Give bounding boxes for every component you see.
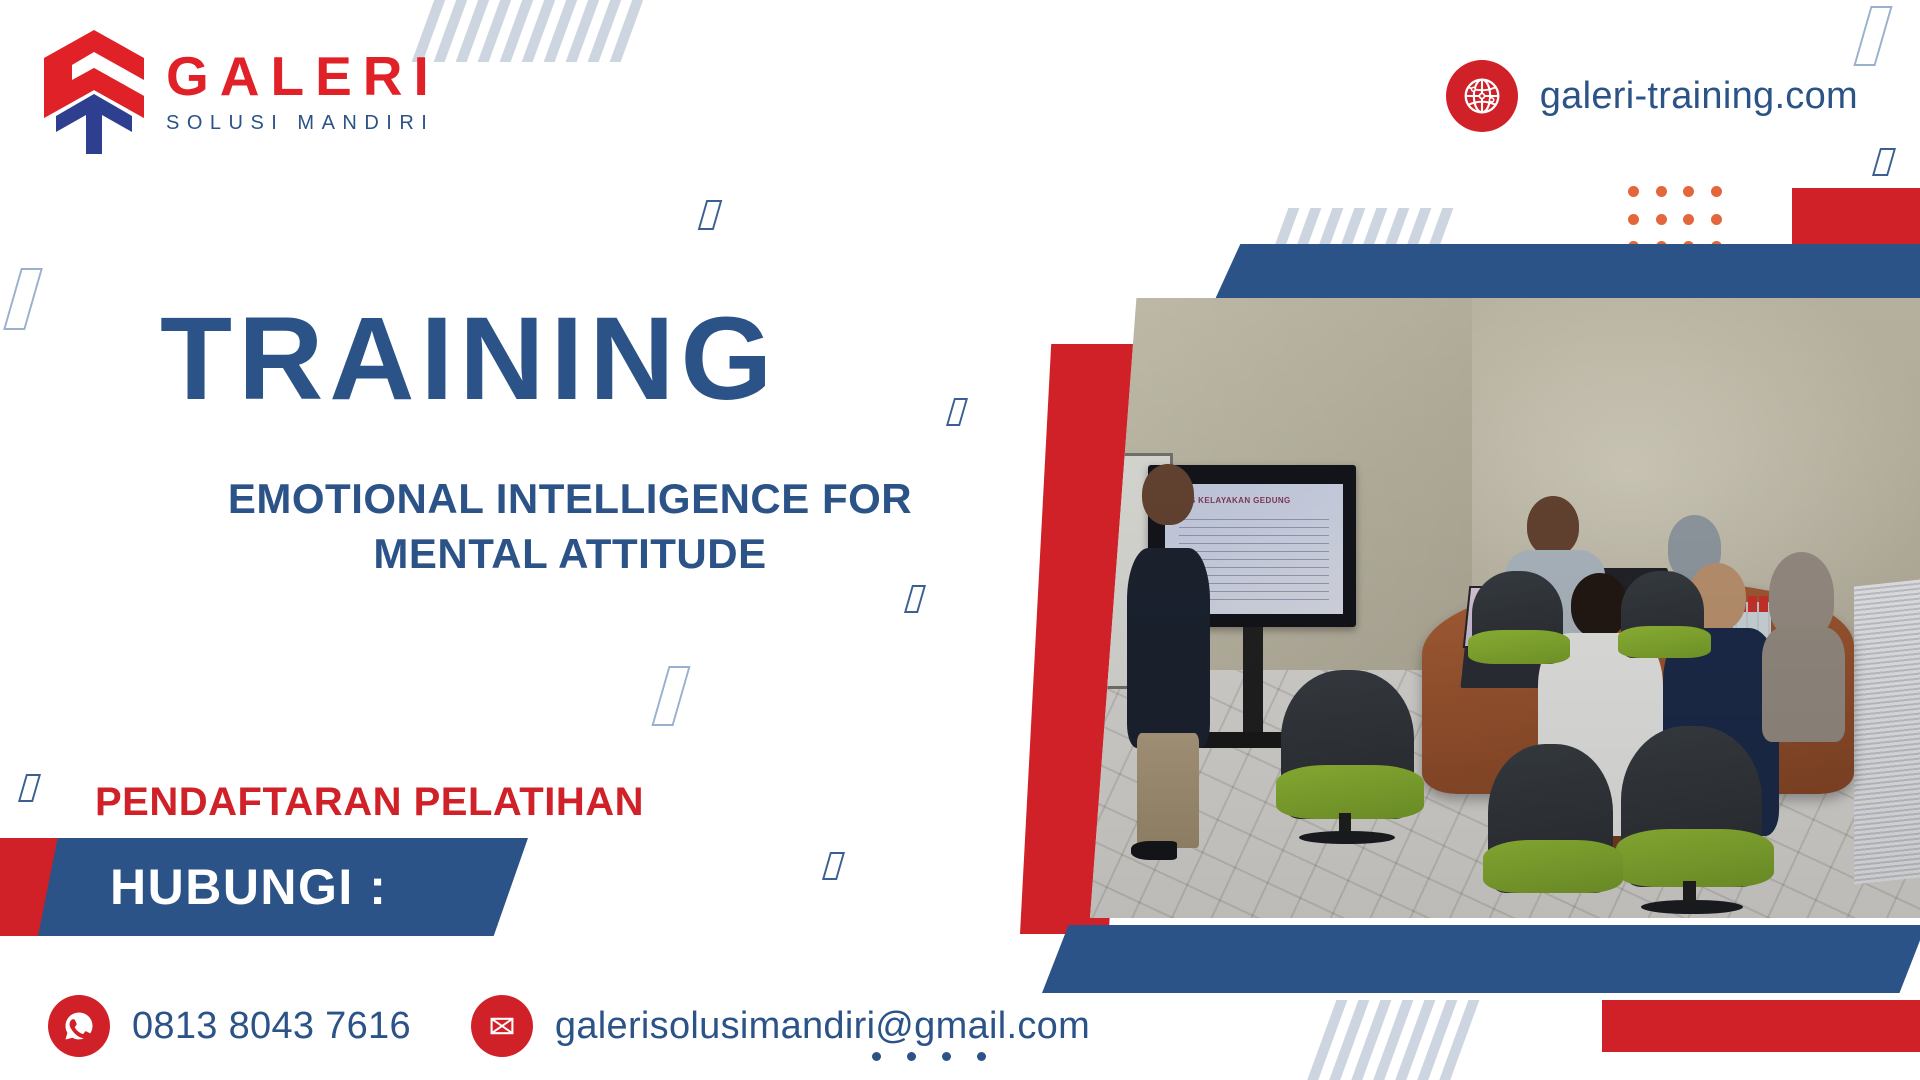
diagonal-stripes-bottom: [1320, 1000, 1463, 1080]
contact-ribbon: HUBUNGI :: [38, 838, 528, 936]
email-address: galerisolusimandiri@gmail.com: [555, 1005, 1090, 1048]
photo-chair-left-front: [1488, 744, 1613, 893]
photo-chair-front: [1281, 670, 1414, 819]
blue-bar-under-photo: [1042, 925, 1920, 993]
hexagon-arrow-logo-icon: [40, 28, 148, 154]
photo-presenter-shoe: [1131, 841, 1177, 860]
whatsapp-icon: [48, 995, 110, 1057]
photo-participant-5-torso: [1762, 627, 1845, 742]
photo-participant-5-head: [1769, 552, 1834, 638]
course-subtitle-line-2: MENTAL ATTITUDE: [160, 527, 980, 582]
decor-parallelogram-1: [3, 268, 43, 330]
photo-chair-back-left: [1472, 571, 1563, 664]
decor-parallelogram-7: [822, 852, 845, 880]
course-subtitle: EMOTIONAL INTELLIGENCE FOR MENTAL ATTITU…: [160, 472, 980, 581]
contact-email[interactable]: galerisolusimandiri@gmail.com: [471, 995, 1090, 1057]
photo-participant-3-head: [1571, 573, 1628, 637]
training-photo: TAS KELAYAKAN GEDUNG: [1090, 298, 1920, 918]
website-link[interactable]: galeri-training.com: [1446, 60, 1858, 132]
photo-wall-chart: [1854, 580, 1920, 885]
training-photo-scene: TAS KELAYAKAN GEDUNG: [1090, 298, 1920, 918]
red-bar-top-right: [1792, 188, 1920, 250]
photo-chair-right-front: [1621, 726, 1762, 887]
decor-parallelogram-2: [698, 200, 723, 230]
logo-title: GALERI: [166, 49, 440, 104]
poster-canvas: GALERI SOLUSI MANDIRI galeri-training.co…: [0, 0, 1920, 1080]
decor-parallelogram-4: [904, 585, 926, 613]
headline-block: TRAINING EMOTIONAL INTELLIGENCE FOR MENT…: [160, 300, 980, 581]
photo-participant-5: [1762, 552, 1845, 738]
course-subtitle-line-1: EMOTIONAL INTELLIGENCE FOR: [160, 472, 980, 527]
brand-logo[interactable]: GALERI SOLUSI MANDIRI: [40, 28, 440, 154]
decor-parallelogram-5: [651, 666, 690, 726]
contact-ribbon-label: HUBUNGI :: [110, 858, 387, 916]
globe-icon: [1446, 60, 1518, 132]
decor-dot-row: [872, 1052, 986, 1061]
contact-phone[interactable]: 0813 8043 7616: [48, 995, 411, 1057]
photo-presenter: [1127, 472, 1210, 856]
photo-tv-stand: [1243, 627, 1263, 739]
blue-bar-top: [1212, 244, 1920, 306]
phone-number: 0813 8043 7616: [132, 1005, 411, 1048]
decor-parallelogram-6: [18, 774, 41, 802]
photo-presenter-torso: [1127, 548, 1210, 748]
photo-presenter-head: [1142, 464, 1193, 526]
decor-parallelogram-8: [1853, 6, 1892, 66]
photo-presenter-legs: [1137, 733, 1198, 848]
photo-participant-1-head: [1527, 496, 1579, 556]
photo-chair-back-right: [1621, 571, 1704, 658]
envelope-icon: [471, 995, 533, 1057]
logo-tagline: SOLUSI MANDIRI: [166, 113, 440, 133]
page-title: TRAINING: [160, 300, 980, 418]
registration-label: PENDAFTARAN PELATIHAN: [95, 780, 644, 825]
diagonal-stripes-top-left: [424, 0, 633, 62]
contact-row: 0813 8043 7616 galerisolusimandiri@gmail…: [48, 995, 1090, 1057]
website-url-text: galeri-training.com: [1540, 75, 1858, 118]
decor-parallelogram-9: [1872, 148, 1896, 176]
red-bar-bottom-right: [1602, 1000, 1920, 1052]
